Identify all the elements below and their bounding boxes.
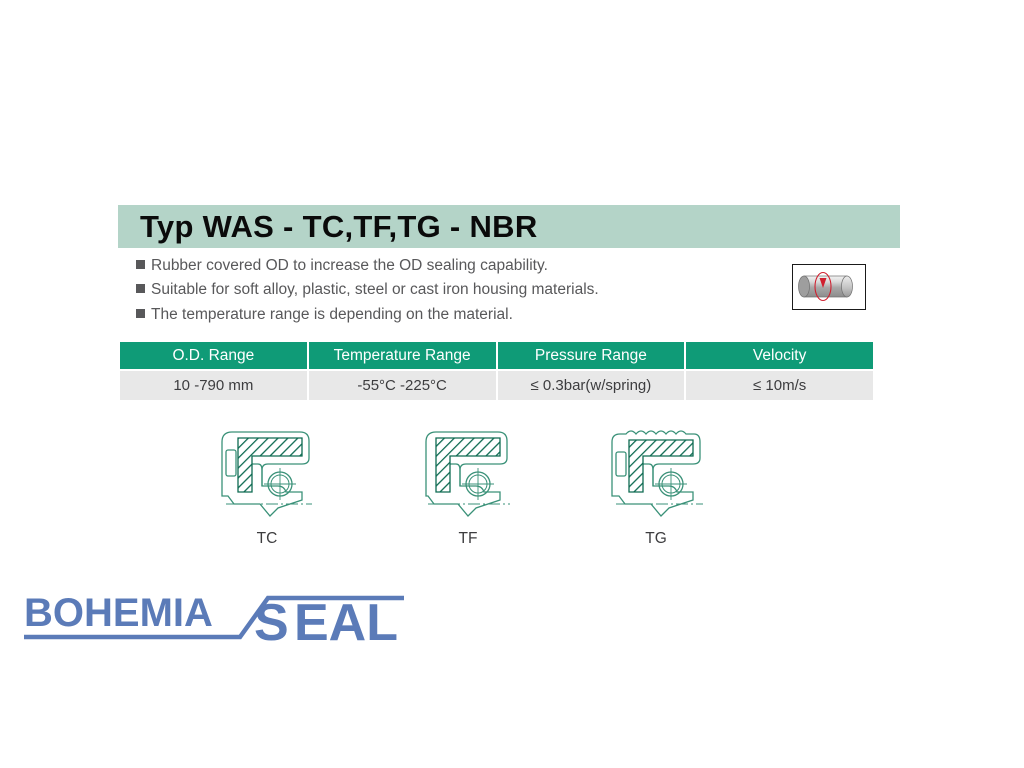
specification-table: O.D. Range Temperature Range Pressure Ra… <box>118 340 875 402</box>
logo-s-glyph: S <box>254 594 289 646</box>
rotating-shaft-icon <box>792 264 866 310</box>
company-logo: BOHEMIA S EAL <box>22 586 422 646</box>
cell-od-range: 10 -790 mm <box>120 371 307 400</box>
table-header-row: O.D. Range Temperature Range Pressure Ra… <box>120 342 873 369</box>
feature-text: Suitable for soft alloy, plastic, steel … <box>151 280 599 300</box>
seal-diagram-tf <box>418 424 518 522</box>
seal-diagram-tg <box>602 424 710 522</box>
logo-secondary-text: EAL <box>294 594 398 646</box>
square-bullet-icon <box>136 309 145 318</box>
list-item: The temperature range is depending on th… <box>136 305 756 325</box>
feature-list: Rubber covered OD to increase the OD sea… <box>136 256 756 329</box>
feature-text: Rubber covered OD to increase the OD sea… <box>151 256 548 276</box>
feature-text: The temperature range is depending on th… <box>151 305 513 325</box>
square-bullet-icon <box>136 284 145 293</box>
column-header-velocity: Velocity <box>686 342 873 369</box>
title-banner: Typ WAS - TC,TF,TG - NBR <box>118 205 900 248</box>
seal-figure-tc: TC <box>212 424 322 548</box>
seal-caption-tf: TF <box>418 530 518 548</box>
column-header-temperature-range: Temperature Range <box>309 342 496 369</box>
cell-temperature-range: -55°C -225°C <box>309 371 496 400</box>
column-header-pressure-range: Pressure Range <box>498 342 685 369</box>
seal-diagram-tc <box>212 424 322 522</box>
cell-velocity: ≤ 10m/s <box>686 371 873 400</box>
square-bullet-icon <box>136 260 145 269</box>
column-header-od-range: O.D. Range <box>120 342 307 369</box>
seal-caption-tc: TC <box>212 530 322 548</box>
cell-pressure-range: ≤ 0.3bar(w/spring) <box>498 371 685 400</box>
page-title: Typ WAS - TC,TF,TG - NBR <box>140 209 538 245</box>
seal-caption-tg: TG <box>602 530 710 548</box>
logo-primary-text: BOHEMIA <box>24 591 213 635</box>
list-item: Rubber covered OD to increase the OD sea… <box>136 256 756 276</box>
seal-figure-tf: TF <box>418 424 518 548</box>
table-row: 10 -790 mm -55°C -225°C ≤ 0.3bar(w/sprin… <box>120 371 873 400</box>
list-item: Suitable for soft alloy, plastic, steel … <box>136 280 756 300</box>
seal-figure-tg: TG <box>602 424 710 548</box>
